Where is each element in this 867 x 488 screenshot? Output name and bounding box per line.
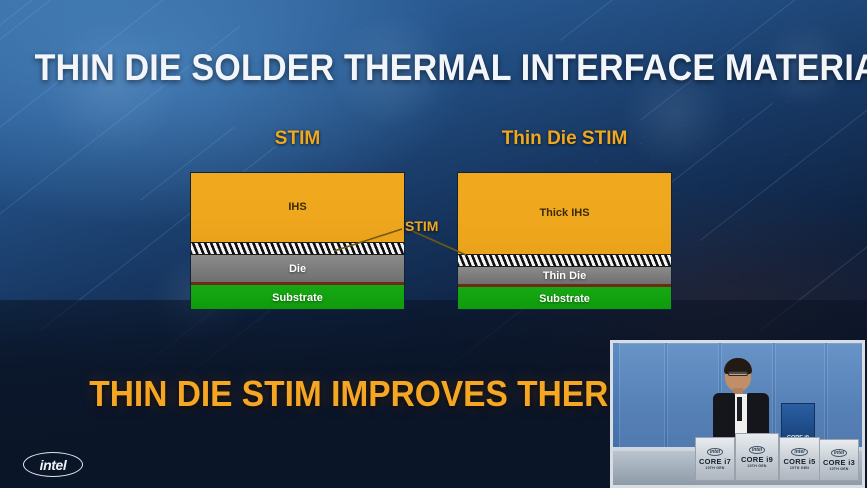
cpu-box-core-i9-model: CORE i9 — [741, 455, 773, 464]
diagram-stim: STIM IHS Die Substrate — [190, 128, 405, 313]
intel-logo: intel — [23, 452, 83, 477]
intel-logo-text: intel — [23, 452, 83, 477]
intel-badge-icon: intel — [749, 446, 765, 454]
layer-ihs-right-label: Thick IHS — [539, 207, 589, 219]
cpu-box-core-i5: intel CORE i5 10TH GEN — [779, 437, 820, 481]
layer-ihs-left-label: IHS — [288, 201, 306, 213]
layer-die-left: Die — [190, 255, 405, 282]
diagram-stim-title: STIM — [190, 128, 405, 150]
backdrop-panel — [619, 343, 665, 455]
diagram-thin-die-stim-title: Thin Die STIM — [457, 128, 672, 150]
page-title: THIN DIE SOLDER THERMAL INTERFACE MATERI… — [35, 47, 833, 89]
layer-stim-left — [190, 242, 405, 255]
cpu-box-core-i3-model: CORE i3 — [823, 458, 855, 467]
layer-ihs-left: IHS — [190, 172, 405, 242]
banner-statement: THIN DIE STIM IMPROVES THERMAL PER — [0, 372, 595, 416]
layer-substrate-right: Substrate — [457, 287, 672, 310]
layer-thin-die-right: Thin Die — [457, 267, 672, 284]
layer-ihs-right: Thick IHS — [457, 172, 672, 254]
cpu-box-core-i5-model: CORE i5 — [783, 457, 815, 466]
cpu-box-core-i7-model: CORE i7 — [699, 457, 731, 466]
callout-stim-label: STIM — [405, 218, 438, 234]
layer-die-left-label: Die — [289, 263, 306, 275]
callout-stim-text: STIM — [405, 218, 438, 234]
cpu-box-core-i5-gen: 10TH GEN — [790, 466, 809, 470]
slide-stage: THIN DIE SOLDER THERMAL INTERFACE MATERI… — [0, 0, 867, 488]
layer-substrate-left: Substrate — [190, 285, 405, 310]
diagram-thin-die-stim-stack: Thick IHS Thin Die Substrate — [457, 172, 672, 310]
cpu-box-core-i9-gen: 10TH GEN — [747, 464, 766, 468]
cpu-box-core-i9: intel CORE i9 10TH GEN — [735, 433, 779, 481]
layer-substrate-right-label: Substrate — [539, 293, 590, 305]
layer-substrate-left-label: Substrate — [272, 292, 323, 304]
intel-badge-icon: intel — [707, 448, 723, 456]
page-title-text: THIN DIE SOLDER THERMAL INTERFACE MATERI… — [35, 47, 867, 88]
presenter-tie — [737, 397, 742, 421]
intel-badge-icon: intel — [791, 448, 807, 456]
presenter-video-overlay[interactable]: CORE i9 10TH GEN intel CORE i7 10TH GEN … — [610, 340, 865, 488]
diagram-stim-stack: IHS Die Substrate — [190, 172, 405, 310]
layer-stim-right — [457, 254, 672, 267]
cpu-box-core-i3: intel CORE i3 10TH GEN — [819, 439, 859, 481]
cpu-box-core-i7: intel CORE i7 10TH GEN — [695, 437, 735, 481]
cpu-box-core-i7-gen: 10TH GEN — [705, 466, 724, 470]
cpu-box-core-i3-gen: 10TH GEN — [829, 467, 848, 471]
diagram-thin-die-stim: Thin Die STIM Thick IHS Thin Die Substra… — [457, 128, 672, 313]
presenter-glasses — [728, 371, 748, 376]
intel-badge-icon: intel — [831, 449, 847, 457]
layer-thin-die-right-label: Thin Die — [543, 270, 586, 282]
